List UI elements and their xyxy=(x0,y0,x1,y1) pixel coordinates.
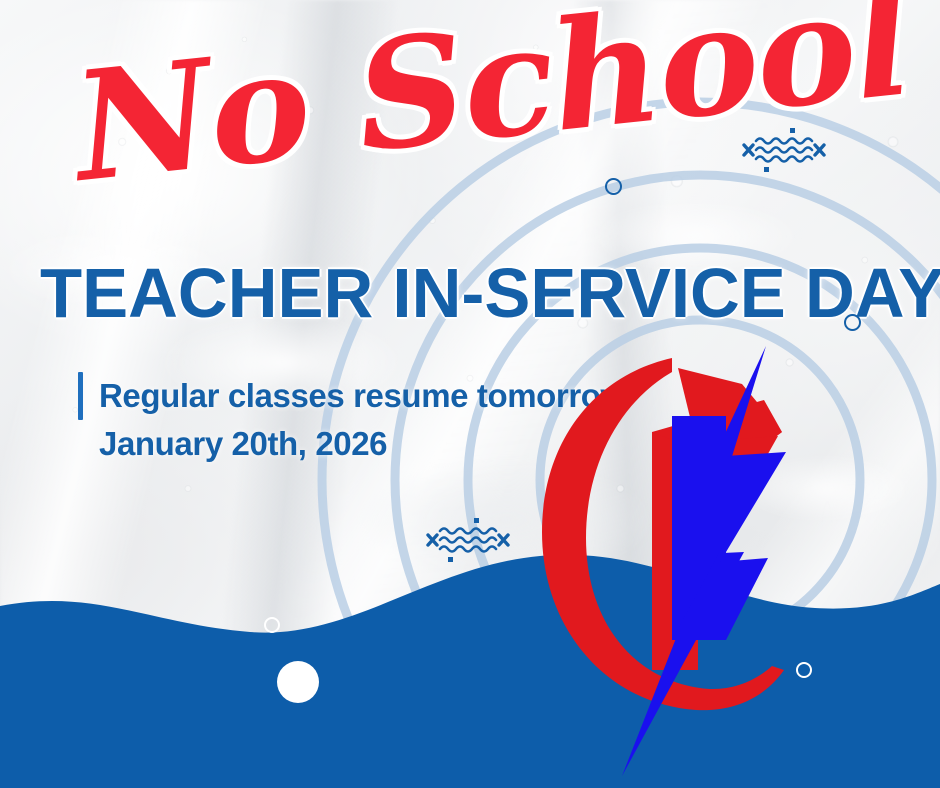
wave-squiggle-icon-center xyxy=(420,516,516,564)
ring-dot-upper xyxy=(605,178,622,195)
ring-dot-headline xyxy=(844,314,861,331)
no-school-announcement-poster: No School TEACHER IN-SERVICE DAY Regular… xyxy=(0,0,940,788)
solid-dot-wave-left xyxy=(277,661,319,703)
school-crest-logo xyxy=(520,340,820,780)
page-title: TEACHER IN-SERVICE DAY xyxy=(40,258,917,328)
logo-letter-c-red xyxy=(542,358,784,710)
accent-bar xyxy=(78,372,83,420)
wave-squiggle-icon-top-right xyxy=(736,126,832,174)
ring-dot-wave-left xyxy=(264,617,280,633)
